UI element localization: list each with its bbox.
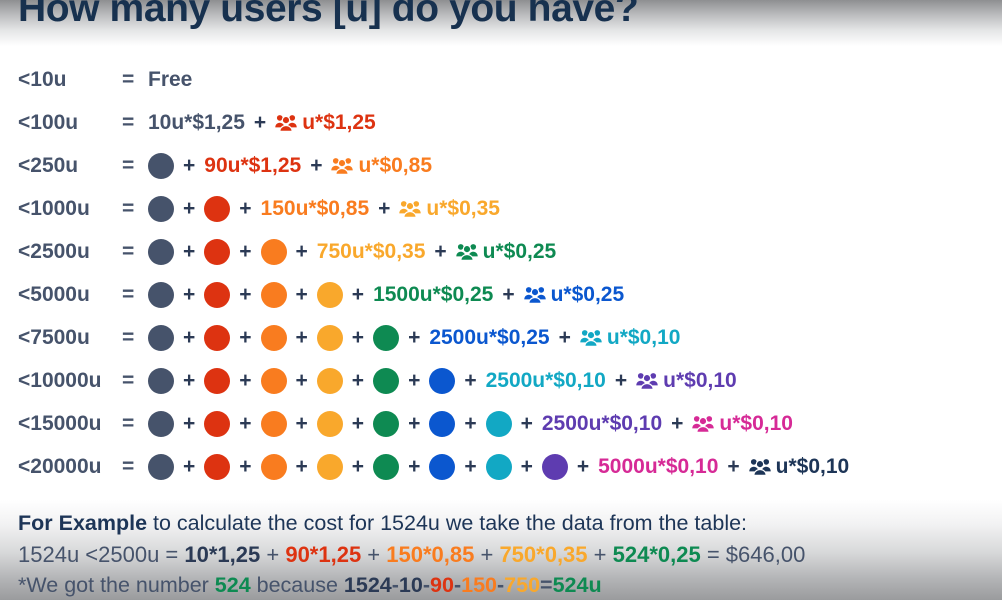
plus-sign: + [399, 369, 429, 393]
footer-segment: 524u [553, 573, 602, 597]
equals-sign: = [122, 240, 144, 264]
footer-segment: 1524u <2500u = [18, 542, 184, 567]
tier-label: <7500u [0, 326, 122, 350]
footer-line-3: *We got the number 524 because 1524-10-9… [18, 570, 993, 600]
footer-segment: to calculate the cost for 1524u we take … [147, 511, 747, 535]
tier-dot [148, 411, 174, 437]
variable-rate-term: u*$0,25 [524, 283, 625, 307]
tier-label: <2500u [0, 240, 122, 264]
plus-sign: + [174, 154, 204, 178]
footer-segment: + [260, 542, 285, 567]
rate-term: 5000u*$0,10 [598, 455, 718, 479]
footer-segment: = [540, 573, 553, 597]
term-text: u*$0,10 [719, 412, 793, 436]
tier-dot [261, 454, 287, 480]
rate-term: 1500u*$0,25 [373, 283, 493, 307]
variable-rate-term: u*$1,25 [275, 111, 376, 135]
tier-dot [317, 368, 343, 394]
plus-sign: + [343, 369, 373, 393]
tier-row: <10000u=++++++2500u*$0,10+u*$0,10 [0, 359, 1002, 402]
tier-row: <2500u=+++750u*$0,35+u*$0,25 [0, 230, 1002, 273]
equals-sign: = [122, 68, 144, 92]
tier-dot [486, 454, 512, 480]
footer-example-block: For Example to calculate the cost for 15… [18, 508, 993, 600]
footer-segment: = $646,00 [701, 542, 806, 567]
term-text: u*$0,10 [607, 326, 681, 350]
equals-sign: = [122, 369, 144, 393]
variable-rate-term: u*$0,85 [331, 154, 432, 178]
tier-dot [373, 454, 399, 480]
tier-dot [317, 411, 343, 437]
people-group-icon [524, 285, 546, 304]
plus-sign: + [343, 283, 373, 307]
plus-sign: + [174, 283, 204, 307]
tier-dot [148, 239, 174, 265]
tier-row: <7500u=+++++2500u*$0,25+u*$0,10 [0, 316, 1002, 359]
people-group-icon [749, 457, 771, 476]
equals-sign: = [122, 455, 144, 479]
equals-sign: = [122, 197, 144, 221]
tier-dot [148, 282, 174, 308]
plus-sign: + [455, 369, 485, 393]
term-text: u*$0,35 [426, 197, 500, 221]
plus-sign: + [425, 240, 455, 264]
term-text: u*$0,10 [663, 369, 737, 393]
tier-row: <5000u=++++1500u*$0,25+u*$0,25 [0, 273, 1002, 316]
footer-segment: + [361, 542, 386, 567]
tier-dot [148, 368, 174, 394]
footer-segment: 150*0,85 [386, 542, 474, 567]
equals-sign: = [122, 326, 144, 350]
term-text: u*$0,10 [776, 455, 850, 479]
plus-sign: + [343, 455, 373, 479]
tier-dot [261, 368, 287, 394]
rate-term: 10u*$1,25 [148, 111, 245, 135]
plus-sign: + [230, 369, 260, 393]
tier-dot [317, 282, 343, 308]
plus-sign: + [343, 326, 373, 350]
term-text: u*$0,85 [358, 154, 432, 178]
footer-segment: 524*0,25 [613, 542, 701, 567]
tier-row: <250u=+90u*$1,25+u*$0,85 [0, 144, 1002, 187]
tier-dot [261, 325, 287, 351]
footer-segment: 750 [504, 573, 540, 597]
variable-rate-term: u*$0,10 [580, 326, 681, 350]
footer-line-1: For Example to calculate the cost for 15… [18, 508, 993, 539]
tier-label: <20000u [0, 455, 122, 479]
tier-label: <5000u [0, 283, 122, 307]
equals-sign: = [122, 111, 144, 135]
plus-sign: + [455, 412, 485, 436]
tier-row: <100u=10u*$1,25+u*$1,25 [0, 101, 1002, 144]
variable-rate-term: u*$0,10 [636, 369, 737, 393]
tier-label: <10000u [0, 369, 122, 393]
plus-sign: + [493, 283, 523, 307]
people-group-icon [636, 371, 658, 390]
footer-segment: 90 [430, 573, 454, 597]
tier-dot [204, 411, 230, 437]
footer-segment: - [392, 573, 399, 597]
plus-sign: + [245, 111, 275, 135]
tier-label: <250u [0, 154, 122, 178]
plus-sign: + [718, 455, 748, 479]
equals-sign: = [122, 283, 144, 307]
term-text: u*$0,25 [551, 283, 625, 307]
plus-sign: + [399, 326, 429, 350]
tier-row: <20000u=++++++++5000u*$0,10+u*$0,10 [0, 445, 1002, 488]
tier-dot [148, 325, 174, 351]
tier-dot [204, 282, 230, 308]
tier-label: <15000u [0, 412, 122, 436]
rate-term: 90u*$1,25 [204, 154, 301, 178]
plus-sign: + [174, 455, 204, 479]
tier-dot [261, 239, 287, 265]
plus-sign: + [455, 455, 485, 479]
plus-sign: + [369, 197, 399, 221]
plus-sign: + [568, 455, 598, 479]
rate-term: 150u*$0,85 [261, 197, 370, 221]
footer-segment: 10 [399, 573, 423, 597]
plus-sign: + [343, 412, 373, 436]
tier-dot [373, 368, 399, 394]
plus-sign: + [230, 455, 260, 479]
tier-dot [204, 196, 230, 222]
plus-sign: + [287, 240, 317, 264]
footer-segment: *We got the number [18, 573, 215, 597]
footer-segment: because [251, 573, 344, 597]
tier-dot [429, 454, 455, 480]
tier-label: <1000u [0, 197, 122, 221]
tier-dot [204, 325, 230, 351]
footer-segment: 1524 [344, 573, 392, 597]
variable-rate-term: u*$0,35 [399, 197, 500, 221]
footer-segment: + [474, 542, 499, 567]
footer-segment: - [423, 573, 430, 597]
term-text: u*$0,25 [483, 240, 557, 264]
tier-row: <1000u=++150u*$0,85+u*$0,35 [0, 187, 1002, 230]
tier-label: <100u [0, 111, 122, 135]
equals-sign: = [122, 412, 144, 436]
footer-segment: For Example [18, 511, 147, 535]
plus-sign: + [174, 412, 204, 436]
footer-segment: 10*1,25 [184, 542, 260, 567]
tier-dot [204, 454, 230, 480]
variable-rate-term: u*$0,10 [692, 412, 793, 436]
variable-rate-term: u*$0,25 [456, 240, 557, 264]
plus-sign: + [174, 369, 204, 393]
people-group-icon [275, 113, 297, 132]
people-group-icon [399, 199, 421, 218]
footer-segment: 150 [461, 573, 497, 597]
rate-term: 750u*$0,35 [317, 240, 426, 264]
plus-sign: + [230, 240, 260, 264]
tier-dot [429, 368, 455, 394]
plus-sign: + [399, 455, 429, 479]
plus-sign: + [174, 240, 204, 264]
tier-dot [261, 411, 287, 437]
rate-term: Free [148, 68, 192, 92]
tier-label: <10u [0, 68, 122, 92]
footer-segment: 90*1,25 [285, 542, 361, 567]
plus-sign: + [662, 412, 692, 436]
tier-dot [317, 454, 343, 480]
rate-term: 2500u*$0,10 [486, 369, 606, 393]
tier-dot [429, 411, 455, 437]
tier-dot [373, 411, 399, 437]
people-group-icon [692, 414, 714, 433]
tier-dot [261, 282, 287, 308]
page-title: How many users [u] do you have? [18, 0, 638, 31]
plus-sign: + [512, 412, 542, 436]
tier-dot [204, 239, 230, 265]
plus-sign: + [174, 197, 204, 221]
tier-dot [204, 368, 230, 394]
tier-dot [148, 153, 174, 179]
people-group-icon [456, 242, 478, 261]
tier-row: <10u=Free [0, 58, 1002, 101]
tier-dot [317, 325, 343, 351]
plus-sign: + [287, 369, 317, 393]
rate-term: 2500u*$0,25 [429, 326, 549, 350]
plus-sign: + [287, 326, 317, 350]
plus-sign: + [606, 369, 636, 393]
pricing-tier-table: <10u=Free<100u=10u*$1,25+u*$1,25<250u=+9… [0, 58, 1002, 488]
footer-segment: 750*0,35 [499, 542, 587, 567]
plus-sign: + [230, 326, 260, 350]
plus-sign: + [287, 455, 317, 479]
plus-sign: + [399, 412, 429, 436]
plus-sign: + [230, 197, 260, 221]
people-group-icon [331, 156, 353, 175]
term-text: u*$1,25 [302, 111, 376, 135]
plus-sign: + [301, 154, 331, 178]
slide-canvas: How many users [u] do you have? <10u=Fre… [0, 0, 1002, 600]
plus-sign: + [287, 412, 317, 436]
plus-sign: + [550, 326, 580, 350]
rate-term: 2500u*$0,10 [542, 412, 662, 436]
equals-sign: = [122, 154, 144, 178]
plus-sign: + [230, 283, 260, 307]
tier-dot [542, 454, 568, 480]
plus-sign: + [287, 283, 317, 307]
tier-dot [373, 325, 399, 351]
plus-sign: + [174, 326, 204, 350]
people-group-icon [580, 328, 602, 347]
variable-rate-term: u*$0,10 [749, 455, 850, 479]
footer-segment: + [588, 542, 613, 567]
tier-dot [148, 196, 174, 222]
footer-segment: 524 [215, 573, 251, 597]
tier-dot [148, 454, 174, 480]
tier-row: <15000u=+++++++2500u*$0,10+u*$0,10 [0, 402, 1002, 445]
footer-line-2: 1524u <2500u = 10*1,25 + 90*1,25 + 150*0… [18, 539, 993, 570]
plus-sign: + [230, 412, 260, 436]
plus-sign: + [512, 455, 542, 479]
tier-dot [486, 411, 512, 437]
